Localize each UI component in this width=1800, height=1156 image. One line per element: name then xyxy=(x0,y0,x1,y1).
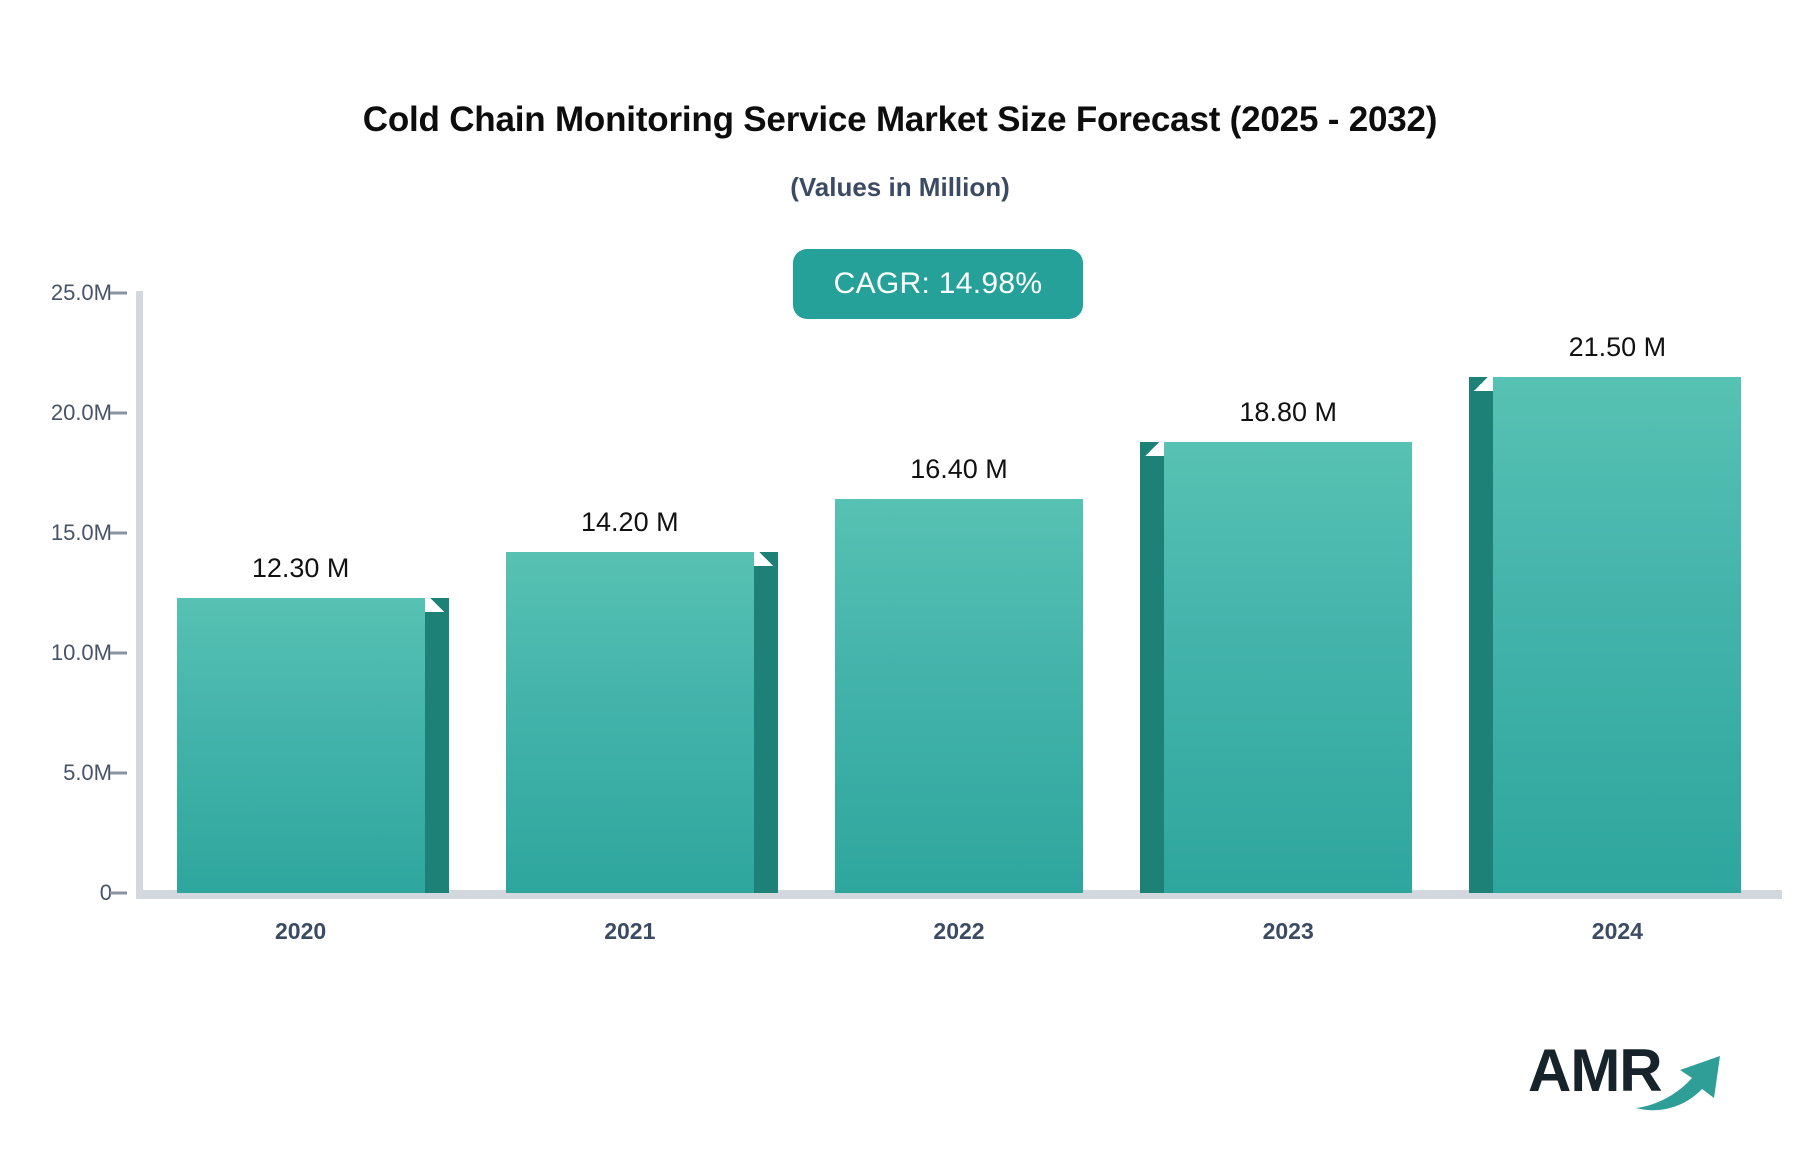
y-axis-tick-mark xyxy=(110,652,127,655)
bar-side-bevel xyxy=(754,552,778,566)
y-axis-tick-mark xyxy=(110,292,127,295)
x-axis-tick-label: 2023 xyxy=(1263,918,1314,945)
x-axis-tick-label: 2021 xyxy=(604,918,655,945)
y-axis-tick-label: 25.0M xyxy=(51,280,112,306)
bar-2022[interactable]: 16.40 M xyxy=(835,499,1083,893)
chart-card: Cold Chain Monitoring Service Market Siz… xyxy=(0,0,1800,1156)
bar-front-face xyxy=(177,598,425,893)
bar-2021[interactable]: 14.20 M xyxy=(506,552,754,893)
x-axis-tick-label: 2024 xyxy=(1592,918,1643,945)
bar-side-bevel xyxy=(425,598,449,612)
y-axis-tick-label: 20.0M xyxy=(51,400,112,426)
bar-side-bevel xyxy=(1469,377,1493,391)
bar-value-label: 18.80 M xyxy=(1239,397,1337,428)
bar-front-face xyxy=(1164,442,1412,893)
bar-front-face xyxy=(835,499,1083,893)
y-axis-tick-mark xyxy=(110,532,127,535)
bar-side-face xyxy=(754,566,778,893)
bar-value-label: 14.20 M xyxy=(581,507,679,538)
bar-side-face xyxy=(1140,456,1164,893)
plot-area: 25.0M20.0M15.0M10.0M5.0M0 12.30 M14.20 M… xyxy=(0,0,1800,1156)
bar-side-face xyxy=(1469,391,1493,893)
bar-side-face xyxy=(425,612,449,893)
bar-front-face xyxy=(506,552,754,893)
x-axis-tick-label: 2022 xyxy=(933,918,984,945)
y-axis-tick-label: 10.0M xyxy=(51,640,112,666)
y-axis-tick-mark xyxy=(110,412,127,415)
bar-2023[interactable]: 18.80 M xyxy=(1164,442,1412,893)
y-axis-tick-label: 15.0M xyxy=(51,520,112,546)
y-axis-tick-mark xyxy=(110,772,127,775)
bar-front-face xyxy=(1493,377,1741,893)
bar-value-label: 16.40 M xyxy=(910,454,1008,485)
growth-arrow-icon xyxy=(1632,1046,1728,1114)
bar-2024[interactable]: 21.50 M xyxy=(1493,377,1741,893)
x-axis-tick-label: 2020 xyxy=(275,918,326,945)
y-axis-line xyxy=(136,291,143,897)
bar-value-label: 21.50 M xyxy=(1569,332,1667,363)
amr-logo: AMR xyxy=(1528,1028,1728,1114)
y-axis-tick-label: 5.0M xyxy=(63,760,112,786)
bar-side-bevel xyxy=(1140,442,1164,456)
bar-2020[interactable]: 12.30 M xyxy=(177,598,425,893)
y-axis-tick-mark xyxy=(110,892,127,895)
bar-value-label: 12.30 M xyxy=(252,553,350,584)
